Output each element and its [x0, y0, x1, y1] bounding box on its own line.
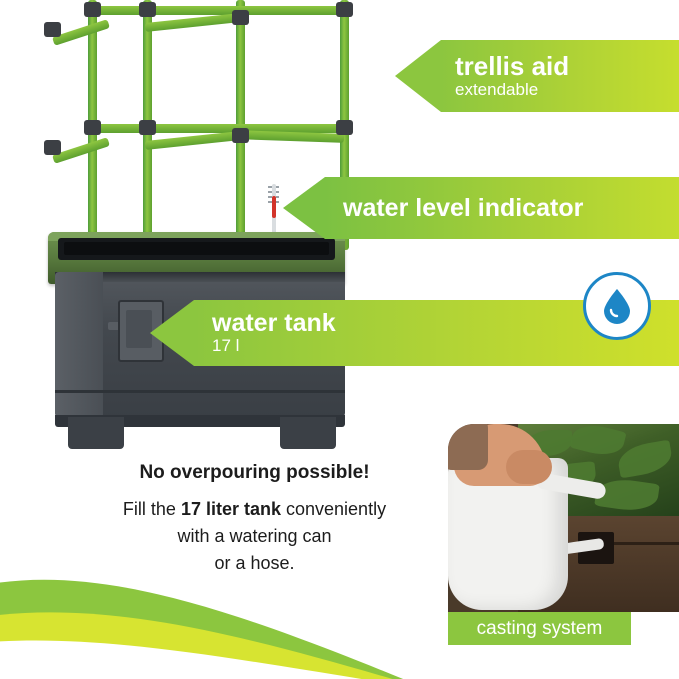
- tank-foot-left: [68, 417, 124, 449]
- overpouring-line1-pre: Fill the: [123, 499, 181, 519]
- callout-water-tank-capacity: 17 l: [212, 336, 679, 356]
- water-drop-badge: [583, 272, 651, 340]
- water-drop-icon: [602, 288, 632, 324]
- overpouring-line3: or a hose.: [214, 553, 294, 573]
- overpouring-text-block: No overpouring possible! Fill the 17 lit…: [62, 462, 447, 577]
- callout-water-level-indicator-body: water level indicator: [325, 177, 679, 239]
- overpouring-line2: with a watering can: [177, 526, 331, 546]
- arrow-tip-icon: [395, 40, 441, 112]
- callout-trellis-aid-body: trellis aid extendable: [441, 40, 679, 112]
- tank-side-face: [55, 272, 103, 417]
- water-level-indicator-float: [272, 196, 276, 218]
- callout-water-level-indicator-title: water level indicator: [343, 195, 679, 221]
- tank-fill-opening: [126, 310, 152, 348]
- overpouring-headline: No overpouring possible!: [62, 462, 447, 484]
- photo-hand-fingers: [506, 450, 552, 484]
- arrow-tip-icon: [150, 300, 194, 366]
- callout-trellis-aid-subtitle: extendable: [455, 80, 679, 100]
- callout-trellis-aid: trellis aid extendable: [395, 40, 679, 112]
- casting-system-photo: [448, 424, 679, 612]
- overpouring-body: Fill the 17 liter tank conveniently with…: [62, 496, 447, 577]
- callout-trellis-aid-title: trellis aid: [455, 53, 679, 80]
- tank-seam-line: [55, 390, 345, 393]
- trough-soil-shadow: [64, 242, 329, 255]
- tank-foot-right: [280, 417, 336, 449]
- overpouring-line1-post: conveniently: [281, 499, 386, 519]
- infographic-canvas: trellis aid extendable water level indic…: [0, 0, 679, 679]
- casting-system-label: casting system: [448, 612, 631, 645]
- photo-sleeve: [448, 424, 488, 470]
- callout-water-level-indicator: water level indicator: [283, 177, 679, 239]
- arrow-tip-icon: [283, 177, 325, 239]
- overpouring-line1-bold: 17 liter tank: [181, 499, 281, 519]
